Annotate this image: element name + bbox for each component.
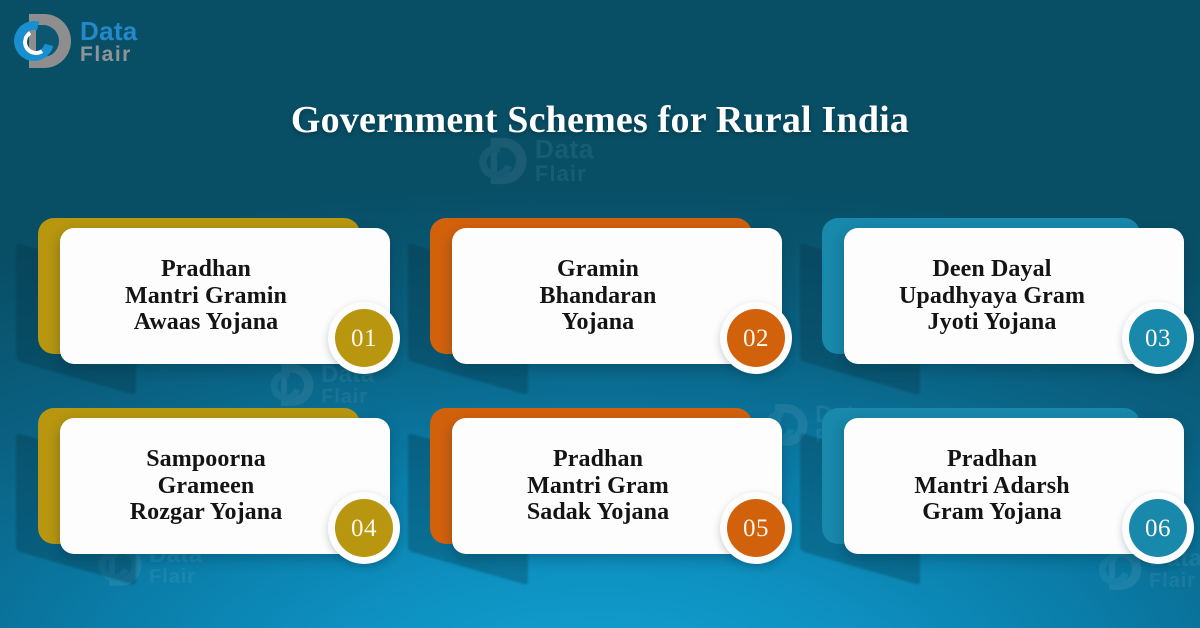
card-number-badge: 01	[328, 302, 400, 374]
card-number: 03	[1129, 309, 1187, 367]
dataflair-logo-icon	[14, 12, 72, 70]
brand-word-bottom: Flair	[80, 43, 132, 66]
scheme-card-01[interactable]: Pradhan Mantri Gramin Awaas Yojana 01	[38, 218, 390, 364]
scheme-card-04[interactable]: Sampoorna Grameen Rozgar Yojana 04	[38, 408, 390, 554]
card-number: 05	[727, 499, 785, 557]
infographic-canvas: Data Flair Data Flair Data Flair Data Fl…	[0, 0, 1200, 628]
scheme-card-03[interactable]: Deen Dayal Upadhyaya Gram Jyoti Yojana 0…	[822, 218, 1174, 364]
card-number-badge: 04	[328, 492, 400, 564]
scheme-card-02[interactable]: Gramin Bhandaran Yojana 02	[430, 218, 782, 364]
card-number: 01	[335, 309, 393, 367]
card-number-badge: 05	[720, 492, 792, 564]
card-number: 04	[335, 499, 393, 557]
scheme-name: Deen Dayal Upadhyaya Gram Jyoti Yojana	[899, 256, 1085, 337]
brand-logo: Data Flair	[14, 12, 138, 70]
scheme-card-05[interactable]: Pradhan Mantri Gram Sadak Yojana 05	[430, 408, 782, 554]
scheme-card-06[interactable]: Pradhan Mantri Adarsh Gram Yojana 06	[822, 408, 1174, 554]
page-title: Government Schemes for Rural India	[0, 98, 1200, 142]
card-number: 06	[1129, 499, 1187, 557]
scheme-name: Sampoorna Grameen Rozgar Yojana	[130, 446, 283, 527]
scheme-name: Gramin Bhandaran Yojana	[540, 256, 657, 337]
watermark-dataflair: Data Flair	[479, 137, 594, 185]
dataflair-logo-icon	[479, 137, 527, 185]
scheme-card-grid: Pradhan Mantri Gramin Awaas Yojana 01 Gr…	[38, 218, 1190, 554]
watermark-word-bottom: Flair	[535, 162, 587, 186]
card-number-badge: 06	[1122, 492, 1194, 564]
brand-word-top: Data	[80, 16, 138, 46]
scheme-name: Pradhan Mantri Adarsh Gram Yojana	[914, 446, 1069, 527]
watermark-word-bottom: Flair	[1149, 570, 1196, 592]
card-number: 02	[727, 309, 785, 367]
watermark-word-bottom: Flair	[149, 566, 196, 588]
card-number-badge: 03	[1122, 302, 1194, 374]
scheme-name: Pradhan Mantri Gramin Awaas Yojana	[125, 256, 287, 337]
scheme-name: Pradhan Mantri Gram Sadak Yojana	[527, 446, 669, 527]
card-number-badge: 02	[720, 302, 792, 374]
